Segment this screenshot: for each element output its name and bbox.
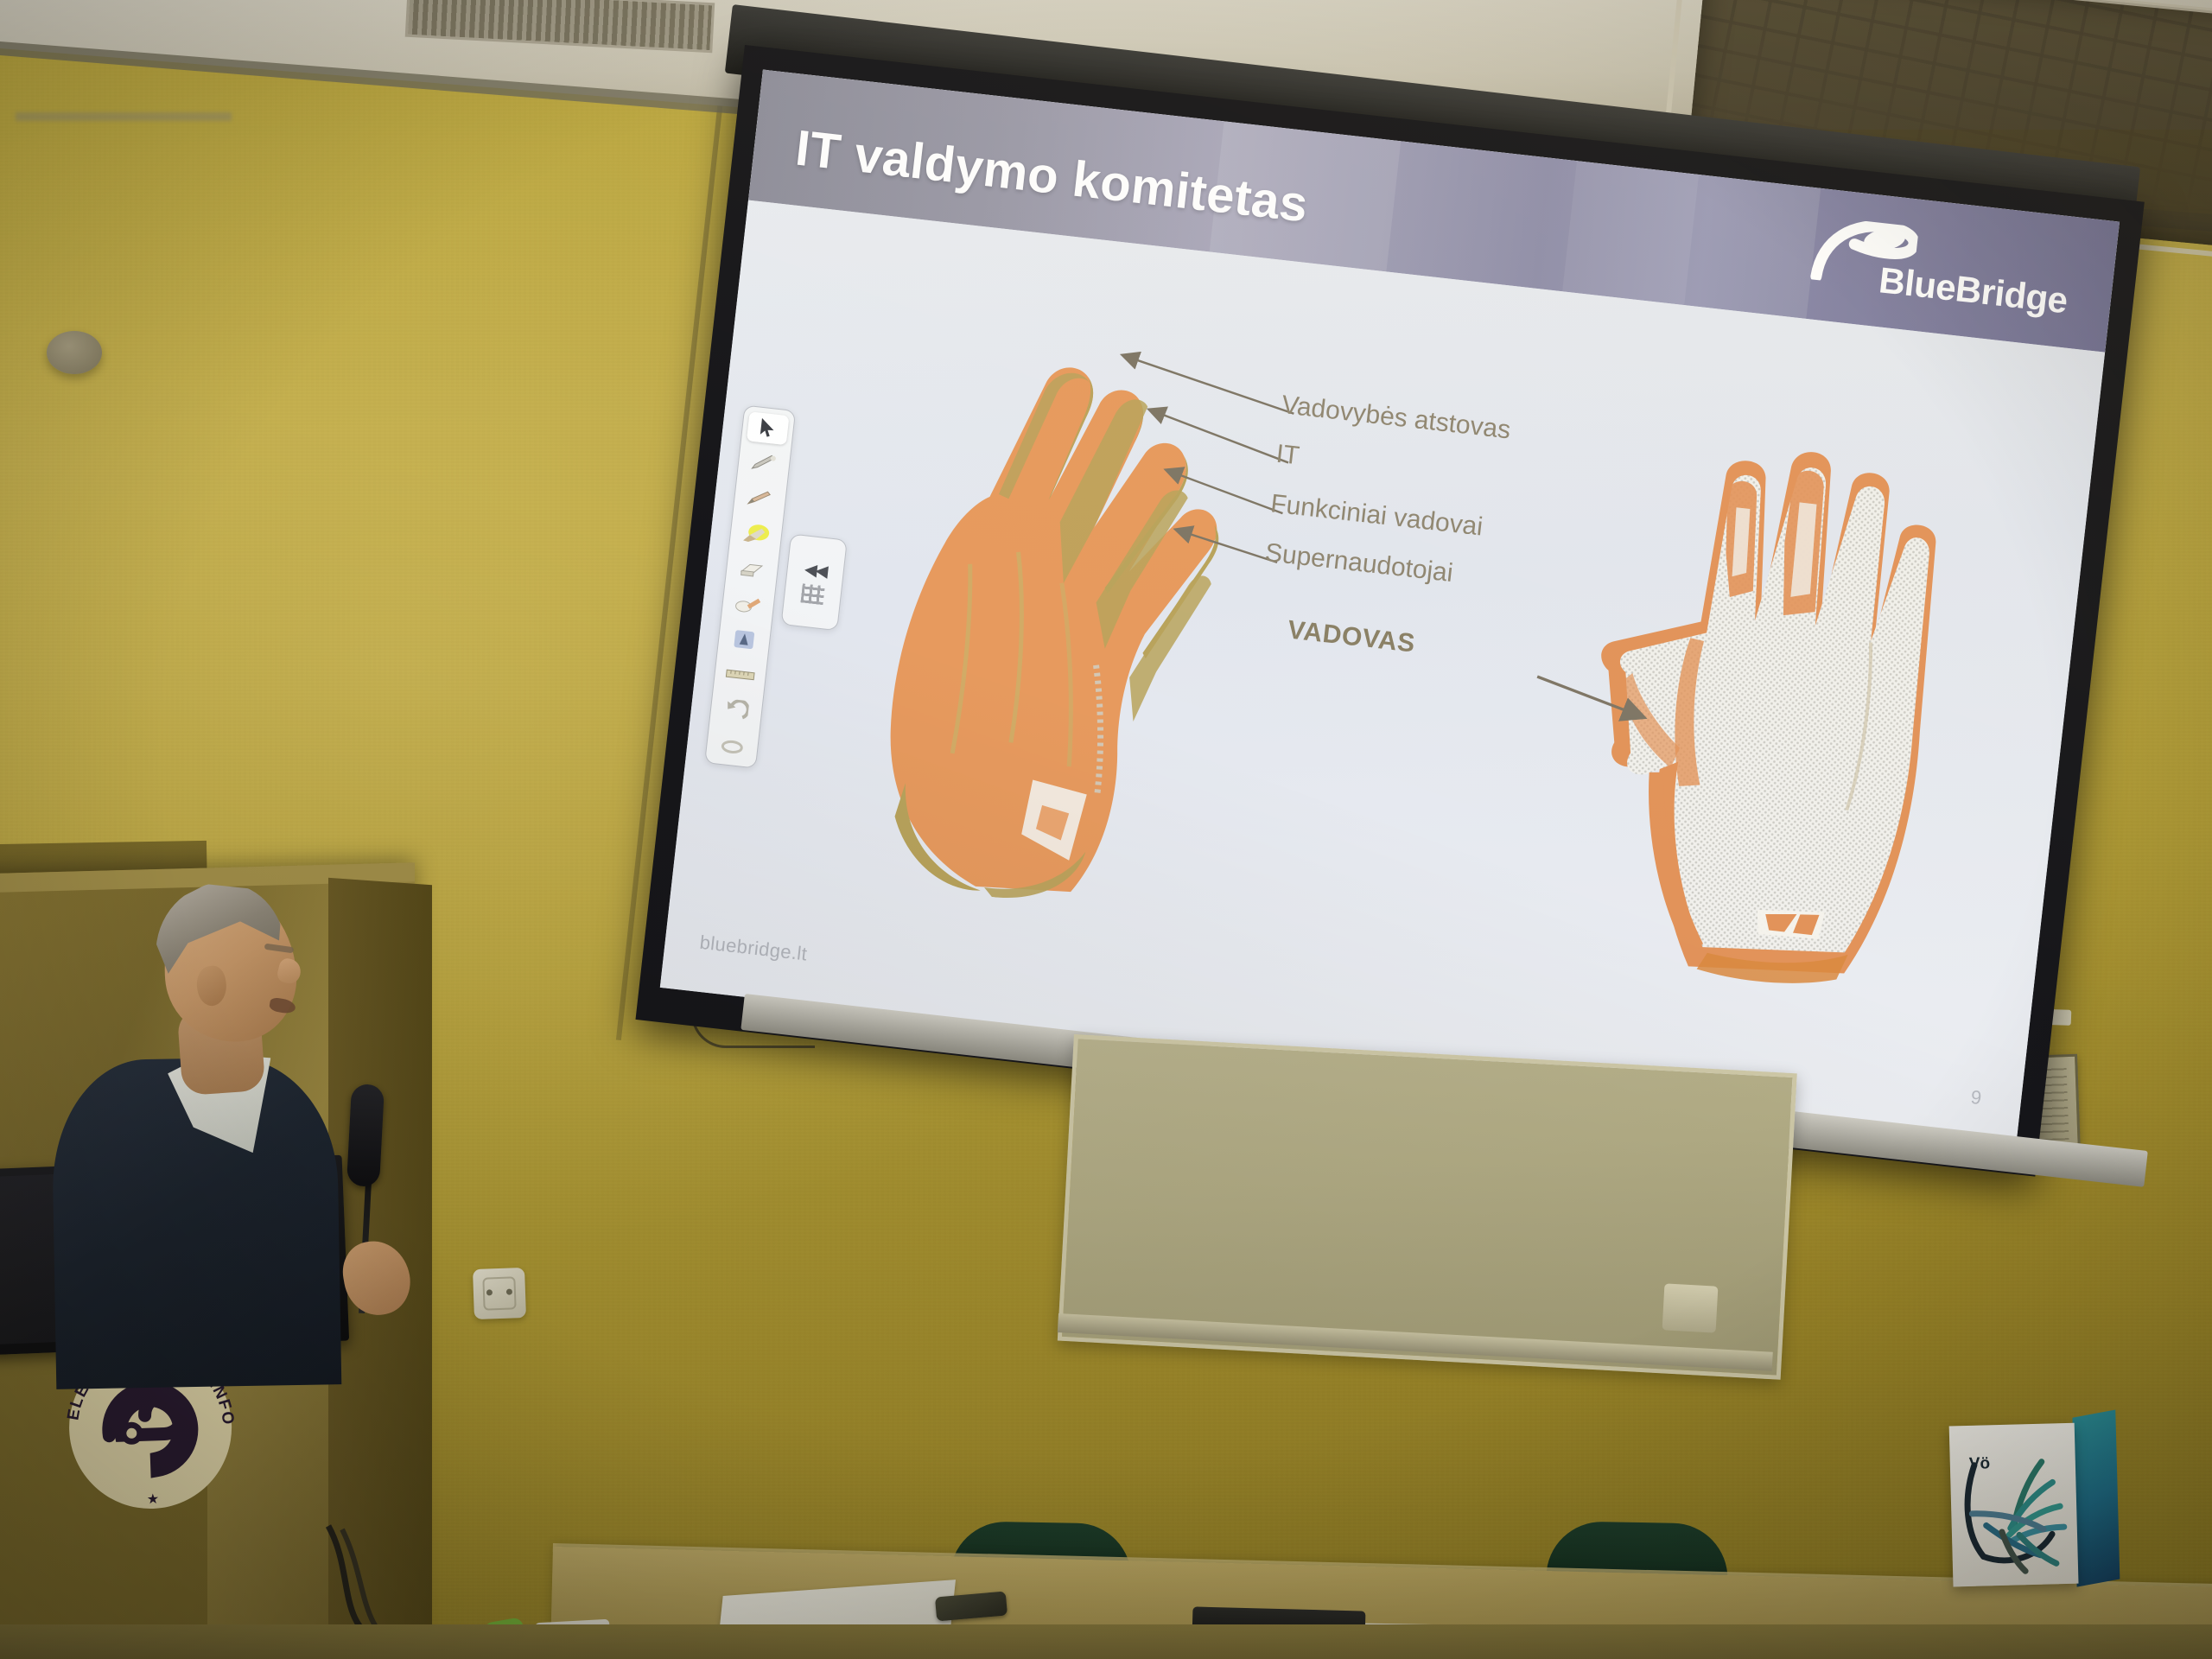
photo-vignette (0, 0, 2212, 1659)
lecture-hall-photo: IT valdymo komitetas BlueBridge (0, 0, 2212, 1659)
